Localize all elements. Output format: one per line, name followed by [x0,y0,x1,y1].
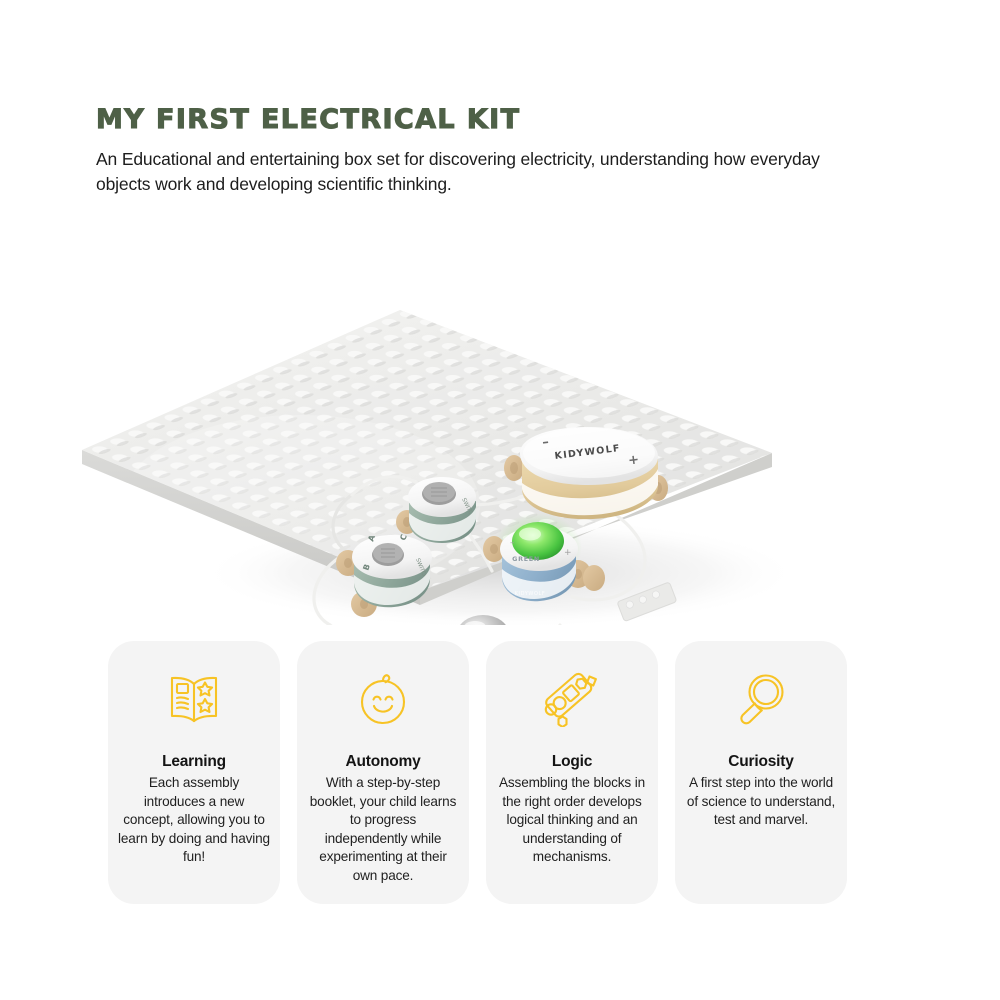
svg-text:+: + [564,548,572,558]
product-page: MY FIRST ELECTRICAL KIT An Educational a… [0,0,1000,1000]
feature-card-logic[interactable]: Logic Assembling the blocks in the right… [486,641,658,904]
product-hero-image: KIDYWOLF – + SWITCH [0,205,1000,625]
smiling-baby-face-icon [355,667,411,731]
open-book-with-stars-icon [165,667,223,731]
svg-text:–: – [510,538,515,548]
magnifying-glass-icon [733,667,789,731]
wood-peg-right2 [583,565,605,591]
feature-card-title: Learning [162,753,226,771]
page-title: MY FIRST ELECTRICAL KIT [96,104,896,136]
green-led-label: GREEN [512,555,540,563]
feature-card-autonomy[interactable]: Autonomy With a step-by-step booklet, yo… [297,641,469,904]
feature-card-title: Curiosity [728,753,793,771]
feature-card-learning[interactable]: Learning Each assembly introduces a new … [108,641,280,904]
shape-sorter-blocks-icon [543,667,601,731]
feature-card-text: Assembling the blocks in the right order… [496,774,648,867]
feature-card-text: Each assembly introduces a new concept, … [118,774,270,867]
feature-card-title: Autonomy [345,753,420,771]
feature-card-title: Logic [552,753,592,771]
feature-card-text: A first step into the world of science t… [685,774,837,830]
feature-card-curiosity[interactable]: Curiosity A first step into the world of… [675,641,847,904]
battery-plus: + [627,452,640,468]
page-header: MY FIRST ELECTRICAL KIT An Educational a… [96,104,896,197]
feature-cards: Learning Each assembly introduces a new … [108,641,892,904]
feature-card-text: With a step-by-step booklet, your child … [307,774,459,886]
page-subtitle: An Educational and entertaining box set … [96,147,841,197]
